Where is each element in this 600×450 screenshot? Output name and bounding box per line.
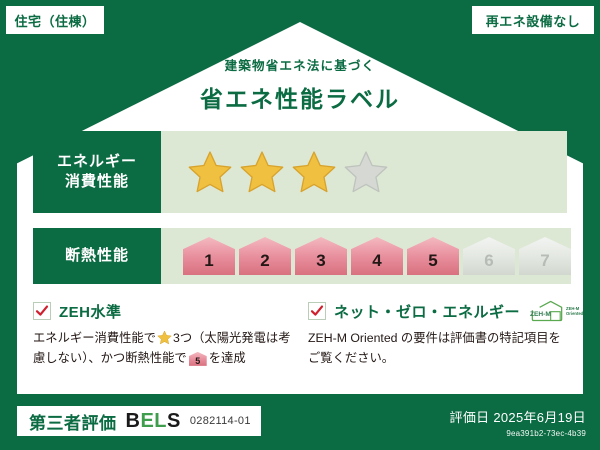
insulation-performance-row: 断熱性能 1234567 (33, 228, 567, 284)
inline-star-icon (157, 330, 172, 345)
nzeb-heading: ネット・ゼロ・エネルギー ZEH-M ZEH-M Oriented (308, 300, 570, 322)
energy-performance-label: 住宅（住棟） 再エネ設備なし 建築物省エネ法に基づく 省エネ性能ラベル エネルギ… (0, 0, 600, 450)
energy-performance-row: エネルギー 消費性能 (33, 131, 567, 213)
renewable-equipment-tag: 再エネ設備なし (472, 6, 594, 34)
zeh-description: エネルギー消費性能で3つ（太陽光発電は考慮しない）、かつ断熱性能で5を達成 (33, 329, 301, 369)
title-subtitle: 建築物省エネ法に基づく (0, 55, 600, 74)
nzeb-checkbox[interactable] (308, 302, 326, 320)
bels-letter-s: S (167, 410, 181, 432)
star-icon-filled (239, 149, 285, 195)
bels-letter-l: L (154, 410, 167, 432)
check-icon (310, 304, 324, 318)
insulation-grade-scale: 1234567 (161, 228, 571, 284)
zeh-m-house-icon: ZEH-M (530, 300, 564, 322)
bels-letter-e: E (140, 410, 154, 432)
bels-letter-b: B (126, 410, 141, 432)
insulation-performance-label: 断熱性能 (33, 228, 161, 284)
label-hash-id: 9ea391b2-73ec-4b39 (450, 429, 586, 438)
star-rating (161, 131, 567, 213)
bels-logo: BELS (126, 410, 181, 433)
insulation-grade-badge-2: 2 (239, 237, 291, 275)
zeh-desc-star-count: 3つ（太陽光発電 (173, 331, 266, 345)
zeh-checkbox[interactable] (33, 302, 51, 320)
page-title: 省エネ性能ラベル (0, 80, 600, 114)
bels-certificate-number: 0282114-01 (190, 415, 251, 427)
star-icon-empty (343, 149, 389, 195)
insulation-grade-badge-3: 3 (295, 237, 347, 275)
insulation-grade-badge-5: 5 (407, 237, 459, 275)
zeh-heading: ZEH水準 (33, 300, 301, 322)
zeh-m-sub-line-2: Oriented (566, 311, 583, 316)
evaluation-date: 評価日 2025年6月19日 (450, 407, 586, 426)
evaluation-date-block: 評価日 2025年6月19日 9ea391b2-73ec-4b39 (450, 407, 586, 438)
zeh-desc-part-3: を達成 (209, 351, 246, 365)
star-icon-filled (291, 149, 337, 195)
energy-label-line-1: エネルギー (57, 153, 137, 170)
zeh-m-logo: ZEH-M ZEH-M Oriented (530, 300, 583, 322)
label-title-block: 建築物省エネ法に基づく 省エネ性能ラベル (0, 55, 600, 114)
third-party-evaluation-label: 第三者評価 (29, 409, 117, 434)
svg-text:ZEH-M: ZEH-M (530, 311, 551, 318)
evaluation-date-value: 2025年6月19日 (493, 410, 586, 425)
bels-footer: 第三者評価 BELS 0282114-01 (17, 406, 261, 436)
insulation-grade-badge-1: 1 (183, 237, 235, 275)
energy-performance-label: エネルギー 消費性能 (33, 131, 161, 213)
evaluation-date-label: 評価日 (450, 410, 490, 425)
zeh-standard-section: ZEH水準 エネルギー消費性能で3つ（太陽光発電は考慮しない）、かつ断熱性能で5… (33, 300, 301, 369)
star-icon-filled (187, 149, 233, 195)
building-type-tag: 住宅（住棟） (6, 6, 104, 34)
zeh-title: ZEH水準 (59, 301, 122, 322)
nzeb-title: ネット・ゼロ・エネルギー (334, 301, 520, 322)
insulation-grade-badge-7: 7 (519, 237, 571, 275)
zeh-m-logo-subtext: ZEH-M Oriented (566, 306, 583, 317)
insulation-grade-badge-4: 4 (351, 237, 403, 275)
insulation-grade-badge-6: 6 (463, 237, 515, 275)
net-zero-energy-section: ネット・ゼロ・エネルギー ZEH-M ZEH-M Oriented ZEH-M … (308, 300, 570, 369)
zeh-desc-part-1: エネルギー消費性能で (33, 331, 156, 345)
energy-label-line-2: 消費性能 (65, 173, 129, 190)
nzeb-description: ZEH-M Oriented の要件は評価書の特記項目をご覧ください。 (308, 329, 570, 369)
check-icon (35, 304, 49, 318)
inline-grade-badge: 5 (189, 352, 207, 366)
